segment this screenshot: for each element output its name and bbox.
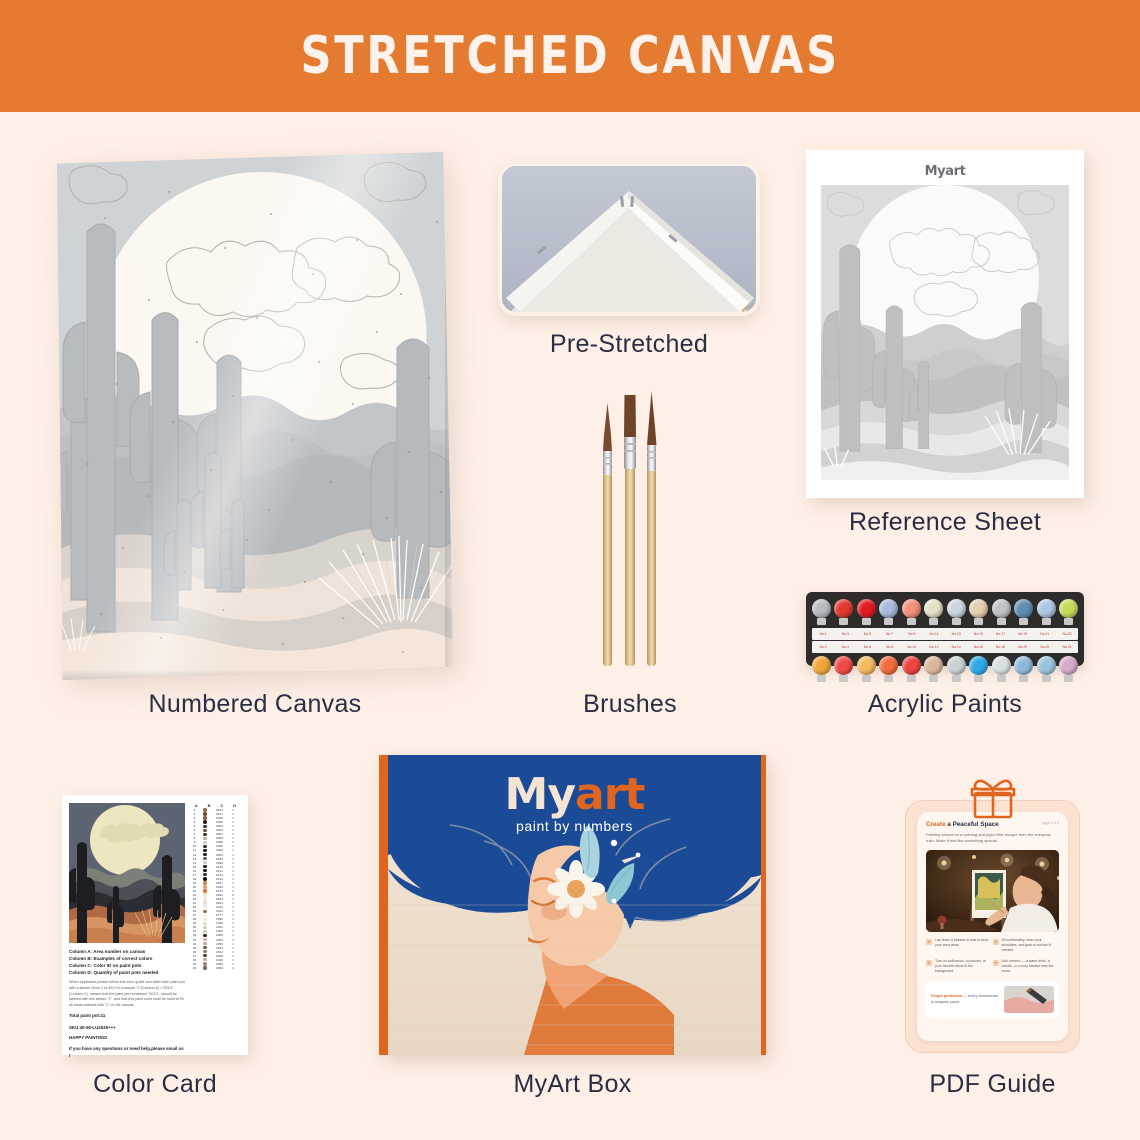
- cc-swatch: [199, 914, 211, 917]
- paint-pot: [924, 597, 943, 627]
- pdf-guide-note: Forget perfection — every brushstroke is…: [926, 981, 1059, 1018]
- color-card-contact: If you have any questions or need help,p…: [69, 1046, 185, 1059]
- cc-swatch: [199, 962, 211, 965]
- paint-pot: [1037, 597, 1056, 627]
- paint-label: No.3: [834, 632, 856, 636]
- paint-pot: [902, 654, 921, 684]
- cc-swatch: [199, 857, 211, 860]
- color-card-table-body: 1001312001713001814000015000216002417000…: [190, 808, 241, 970]
- paint-pot: [1014, 597, 1033, 627]
- paint-pot: [879, 597, 898, 627]
- numbered-canvas-image: [57, 152, 453, 680]
- paint-label: No.2: [812, 645, 834, 649]
- paint-label: No.20: [1012, 645, 1034, 649]
- cc-swatch: [199, 865, 211, 868]
- cc-swatch: [199, 853, 211, 856]
- paint-label: No.18: [989, 645, 1011, 649]
- color-card-happy: HAPPY PAINTING!: [69, 1035, 185, 1042]
- paint-pot: [812, 597, 831, 627]
- paint-label: No.8: [879, 645, 901, 649]
- pdf-note-thumbnail: [1004, 986, 1054, 1013]
- reference-sheet-logo: Myart: [821, 164, 1069, 179]
- pdf-guide-photo: [926, 850, 1059, 932]
- cc-swatch: [199, 845, 211, 848]
- paint-pot: [834, 597, 853, 627]
- paint-label: No.4: [834, 645, 856, 649]
- paint-label: No.22: [1034, 645, 1056, 649]
- pdf-guide-title: Create a Peaceful Space: [926, 821, 1059, 828]
- paint-label: No.11: [923, 632, 945, 636]
- pdf-tip: ✦Lay down a blanket or mat to keep your …: [926, 938, 993, 954]
- paint-label: No.6: [856, 645, 878, 649]
- pdf-tip: ✦Add comfort — a warm drink, a candle, o…: [993, 959, 1060, 975]
- color-card-note: When applicable,please follow this color…: [69, 980, 185, 1008]
- color-card-total: Total paint pot:41: [69, 1013, 185, 1020]
- cc-swatch: [199, 958, 211, 961]
- cc-swatch: [199, 889, 211, 892]
- cc-swatch: [199, 950, 211, 953]
- cc-swatch: [199, 825, 211, 828]
- tip-icon: ✦: [993, 939, 999, 945]
- cc-swatch: [199, 901, 211, 904]
- page-title: STRETCHED CANVAS: [300, 26, 839, 86]
- tip-icon: ✦: [926, 960, 932, 966]
- pdf-tip-text: Turn on soft music, a podcast, or your f…: [935, 959, 990, 975]
- paint-pot: [1014, 654, 1033, 684]
- paint-label: No.21: [1034, 632, 1056, 636]
- paint-label: No.13: [945, 632, 967, 636]
- cc-swatch: [199, 946, 211, 949]
- paint-label: No.1: [812, 632, 834, 636]
- paint-pot: [947, 597, 966, 627]
- cc-qty: 1: [228, 966, 238, 970]
- pdf-guide-image: page 1 of 3 Create a Peaceful Space Pain…: [905, 800, 1080, 1053]
- pdf-note-lead: Forget perfection: [931, 994, 962, 998]
- paint-pot: [992, 654, 1011, 684]
- cc-swatch: [199, 966, 211, 969]
- caption-pdf-guide: PDF Guide: [875, 1070, 1110, 1099]
- pdf-title-rest: a Peaceful Space: [946, 821, 999, 828]
- paint-label: No.10: [901, 645, 923, 649]
- paint-label: No.19: [1012, 632, 1034, 636]
- pdf-page-number: page 1 of 3: [1042, 821, 1059, 825]
- canvas-number-specks: [57, 152, 453, 680]
- pre-stretched-image: [498, 162, 760, 316]
- pdf-tip-text: Add comfort — a warm drink, a candle, or…: [1002, 959, 1057, 975]
- paint-label: No.24: [1056, 645, 1078, 649]
- caption-numbered-canvas: Numbered Canvas: [57, 690, 453, 719]
- cc-color-id: 2060: [211, 966, 228, 970]
- paint-pot: [857, 597, 876, 627]
- tip-icon: ✦: [926, 939, 932, 945]
- pdf-tip-text: Sit comfortably, relax your shoulders, a…: [1002, 938, 1057, 954]
- pdf-guide-tips: ✦Lay down a blanket or mat to keep your …: [926, 938, 1059, 980]
- cc-swatch: [199, 877, 211, 880]
- paint-label-strip-2: No.2No.4No.6No.8No.10No.12No.14No.16No.1…: [812, 641, 1078, 653]
- cc-swatch: [199, 930, 211, 933]
- cc-swatch: [199, 918, 211, 921]
- color-card-legend-a: Column A: Area number on canvas: [69, 948, 185, 955]
- paint-pot: [924, 654, 943, 684]
- caption-brushes: Brushes: [540, 690, 720, 719]
- cc-swatch: [199, 910, 211, 913]
- paint-label: No.5: [856, 632, 878, 636]
- cc-swatch: [199, 812, 211, 815]
- cc-swatch: [199, 938, 211, 941]
- cc-swatch: [199, 954, 211, 957]
- pdf-tip-text: Lay down a blanket or mat to keep your a…: [935, 938, 990, 954]
- paint-row-top: [812, 597, 1078, 627]
- color-card-row: 4020601: [190, 966, 241, 970]
- caption-myart-box: MyArt Box: [379, 1070, 766, 1099]
- myart-logo-my: My: [505, 769, 575, 820]
- caption-pre-stretched: Pre-Stretched: [498, 330, 760, 359]
- paint-pot: [1059, 597, 1078, 627]
- cc-swatch: [199, 829, 211, 832]
- cc-swatch: [199, 942, 211, 945]
- reference-sheet-artwork: [821, 185, 1069, 480]
- paint-label: No.15: [967, 632, 989, 636]
- paint-pot: [969, 597, 988, 627]
- caption-reference-sheet: Reference Sheet: [806, 508, 1084, 537]
- paint-pot: [857, 654, 876, 684]
- cc-swatch: [199, 820, 211, 823]
- paint-row-bottom: [812, 654, 1078, 684]
- myart-logo-art: art: [575, 769, 644, 820]
- pdf-guide-subtitle: Painting should be a calming and joyful …: [926, 832, 1059, 845]
- paint-pot: [902, 597, 921, 627]
- paint-label: No.12: [923, 645, 945, 649]
- cc-swatch: [199, 861, 211, 864]
- cc-swatch: [199, 885, 211, 888]
- pdf-tip: ✦Sit comfortably, relax your shoulders, …: [993, 938, 1060, 954]
- paint-pot: [1037, 654, 1056, 684]
- paint-pot: [1059, 654, 1078, 684]
- brushes-image: [585, 385, 675, 680]
- page-header: STRETCHED CANVAS: [0, 0, 1140, 112]
- acrylic-paints-image: No.1No.3No.5No.7No.9No.11No.13No.15No.17…: [806, 592, 1084, 666]
- paint-label: No.14: [945, 645, 967, 649]
- paint-pot: [879, 654, 898, 684]
- color-card-artwork: [69, 803, 185, 943]
- cc-swatch: [199, 841, 211, 844]
- cc-swatch: [199, 837, 211, 840]
- pdf-title-lead: Create: [926, 821, 946, 828]
- pdf-tip: ✦Turn on soft music, a podcast, or your …: [926, 959, 993, 975]
- cc-swatch: [199, 893, 211, 896]
- paint-pot: [812, 654, 831, 684]
- stretcher-bar-photo: [502, 166, 756, 312]
- color-card-image: Column A: Area number on canvas Column B…: [62, 795, 248, 1055]
- cc-area: 40: [190, 966, 199, 970]
- cc-swatch: [199, 873, 211, 876]
- cc-swatch: [199, 849, 211, 852]
- paint-pot: [969, 654, 988, 684]
- cc-swatch: [199, 934, 211, 937]
- cc-swatch: [199, 881, 211, 884]
- paint-label: No.23: [1056, 632, 1078, 636]
- paint-label: No.9: [901, 632, 923, 636]
- cc-swatch: [199, 833, 211, 836]
- caption-acrylic-paints: Acrylic Paints: [806, 690, 1084, 719]
- color-card-sku: SKU:40-50-LU2535+++: [69, 1025, 185, 1032]
- color-card-legend-d: Column D: Quantity of paint pots needed: [69, 969, 185, 976]
- cc-swatch: [199, 869, 211, 872]
- color-card-legend-c: Column C: Color ID on paint pots: [69, 962, 185, 969]
- reference-sheet-image: Myart: [806, 150, 1084, 498]
- myart-tagline: paint by numbers: [388, 818, 761, 834]
- caption-color-card: Color Card: [42, 1070, 268, 1099]
- paint-pot: [947, 654, 966, 684]
- paint-label: No.17: [989, 632, 1011, 636]
- myart-box-image: Myart paint by numbers: [379, 755, 766, 1055]
- paint-label: No.7: [879, 632, 901, 636]
- cc-swatch: [199, 905, 211, 908]
- paint-label: No.16: [967, 645, 989, 649]
- cc-swatch: [199, 808, 211, 811]
- cc-swatch: [199, 922, 211, 925]
- paint-pot: [992, 597, 1011, 627]
- color-card-legend-b: Column B: Examples of correct colors: [69, 955, 185, 962]
- paint-pot: [834, 654, 853, 684]
- brush-set-svg: [585, 385, 675, 680]
- cc-swatch: [199, 926, 211, 929]
- tip-icon: ✦: [993, 960, 999, 966]
- gift-icon: [967, 775, 1019, 819]
- cc-swatch: [199, 816, 211, 819]
- cc-swatch: [199, 897, 211, 900]
- paint-label-strip-1: No.1No.3No.5No.7No.9No.11No.13No.15No.17…: [812, 628, 1078, 640]
